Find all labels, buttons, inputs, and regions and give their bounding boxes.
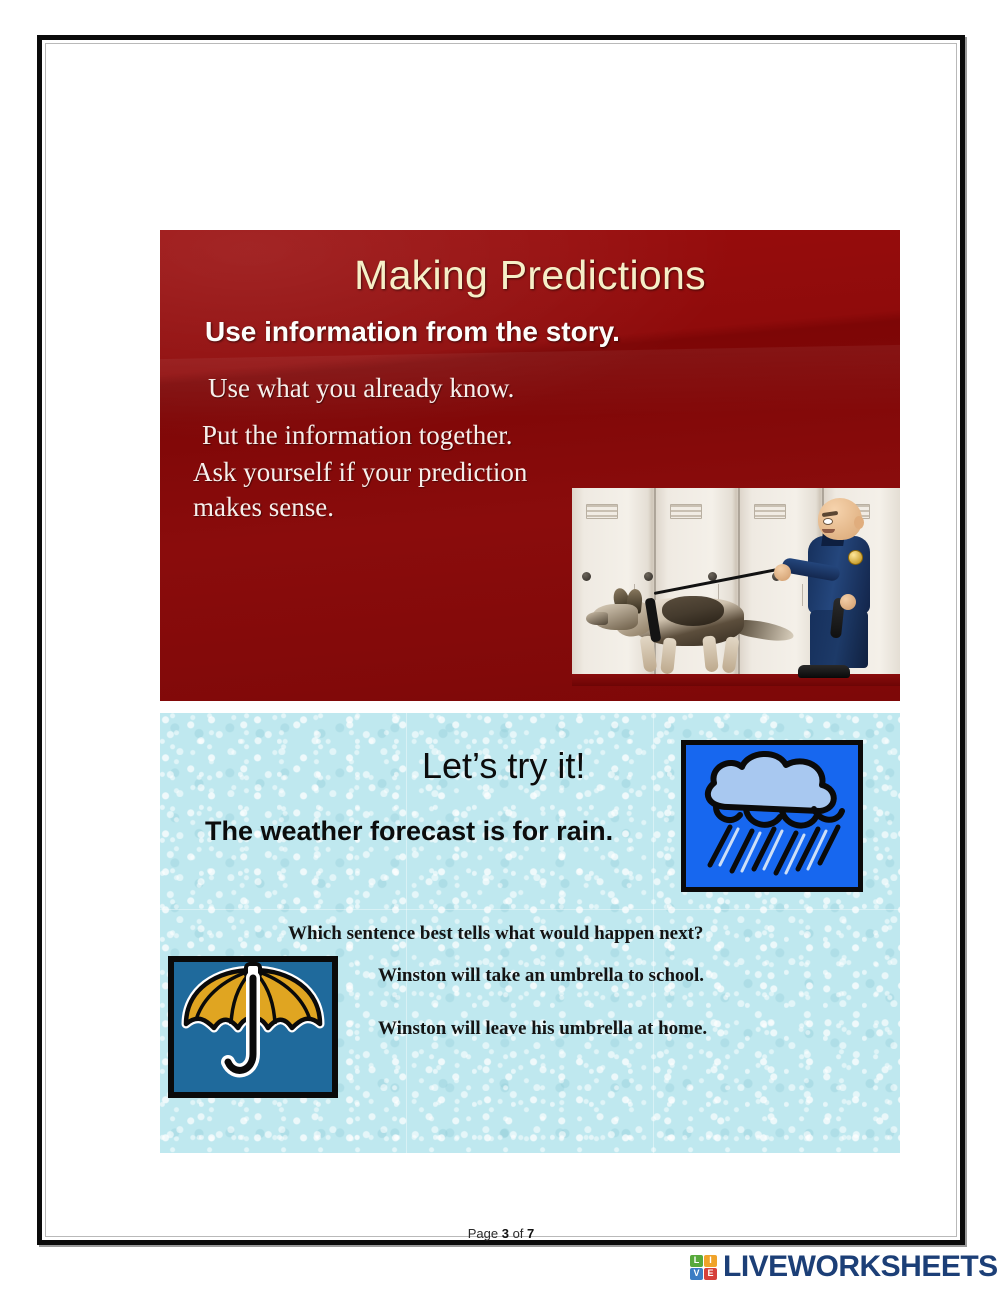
predictions-bullet-2: Put the information together. <box>202 420 512 451</box>
rain-cloud-svg <box>686 745 858 887</box>
logo-tile-i: I <box>704 1255 717 1267</box>
liveworksheets-wordmark: LIVEWORKSHEETS <box>723 1252 998 1282</box>
liveworksheets-logo[interactable]: L I V E LIVEWORKSHEETS <box>690 1252 998 1282</box>
dog-leg <box>722 636 740 673</box>
officer-ear <box>854 516 864 529</box>
predictions-bullet-3: Ask yourself if your prediction <box>193 457 527 488</box>
predictions-bullet-1: Use what you already know. <box>208 373 514 404</box>
slide-making-predictions: Making Predictions Use information from … <box>160 230 900 701</box>
locker-vent <box>754 504 786 519</box>
answer-option-1[interactable]: Winston will take an umbrella to school. <box>378 965 704 987</box>
officer-shoe <box>798 665 850 678</box>
rain-cloud-icon <box>681 740 863 892</box>
dog-leg <box>660 637 677 674</box>
slide-tile-seam <box>160 909 900 910</box>
logo-tile-l: L <box>690 1255 703 1267</box>
officer-badge-icon <box>848 550 863 565</box>
predictions-bullet-4: makes sense. <box>193 492 334 523</box>
dog-saddle-marking <box>662 596 724 626</box>
logo-tile-e: E <box>704 1268 717 1280</box>
page-current: 3 <box>502 1226 509 1241</box>
page-of-label: of <box>509 1226 527 1241</box>
police-dog-illustration <box>590 580 800 678</box>
officer-hand <box>840 594 856 610</box>
predictions-lead-text: Use information from the story. <box>205 316 620 348</box>
weather-forecast-statement: The weather forecast is for rain. <box>205 816 613 847</box>
try-it-title: Let’s try it! <box>422 745 585 787</box>
locker-vent <box>670 504 702 519</box>
page-total: 7 <box>527 1226 534 1241</box>
slide-lets-try-it: Let’s try it! The weather forecast is fo… <box>160 713 900 1153</box>
umbrella-svg <box>174 962 332 1092</box>
worksheet-page: Making Predictions Use information from … <box>37 35 965 1245</box>
police-officer-k9-lockers-photo <box>572 488 900 686</box>
page-label: Page <box>468 1226 502 1241</box>
page-number-footer: Page 3 of 7 <box>42 1226 960 1241</box>
prediction-question: Which sentence best tells what would hap… <box>288 923 703 945</box>
officer-eye <box>823 518 833 525</box>
liveworksheets-tiles-icon: L I V E <box>690 1255 717 1280</box>
predictions-title: Making Predictions <box>160 252 900 299</box>
police-officer-illustration <box>792 498 884 676</box>
locker-vent <box>586 504 618 519</box>
answer-option-2[interactable]: Winston will leave his umbrella at home. <box>378 1018 707 1040</box>
logo-tile-v: V <box>690 1268 703 1280</box>
dog-snout <box>586 612 608 625</box>
officer-mouth <box>822 529 835 533</box>
umbrella-icon <box>168 956 338 1098</box>
